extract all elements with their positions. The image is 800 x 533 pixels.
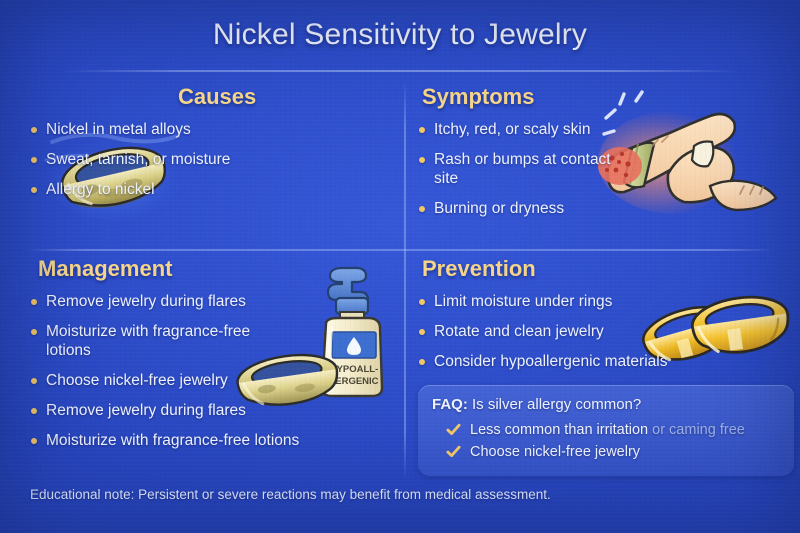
section-causes-heading: Causes	[178, 84, 402, 110]
list-item: Remove jewelry during flares	[30, 292, 280, 311]
check-icon	[446, 422, 461, 437]
section-prevention-heading: Prevention	[422, 256, 788, 282]
educational-note: Educational note: Persistent or severe r…	[30, 487, 551, 502]
list-item: Remove jewelry during flares	[30, 401, 390, 420]
faq-answer-trailing: or caming free	[652, 422, 745, 438]
faq-question: FAQ: Is silver allergy common?	[432, 396, 780, 413]
faq-label: FAQ:	[432, 396, 468, 413]
faq-answer-list: Less common than irritation or caming fr…	[432, 420, 780, 462]
section-management-heading: Management	[38, 256, 404, 282]
list-item: Consider hypoallergenic materials	[418, 352, 718, 371]
check-icon	[446, 444, 461, 459]
faq-answer-item: Choose nickel-free jewelry	[446, 442, 780, 462]
section-management-extra-list: Remove jewelry during flares Moisturize …	[30, 401, 390, 450]
section-prevention: Prevention Limit moisture under rings Ro…	[418, 256, 788, 382]
title-divider	[62, 70, 738, 72]
vertical-divider	[404, 80, 406, 480]
infographic-poster: Nickel Sensitivity to Jewelry	[0, 0, 800, 533]
section-symptoms-heading: Symptoms	[422, 84, 788, 110]
faq-answer-text: Less common than irritation	[470, 422, 648, 438]
section-symptoms-list: Itchy, red, or scaly skin Rash or bumps …	[418, 120, 618, 218]
section-management: Management Remove jewelry during flares …	[30, 256, 404, 461]
list-item: Rotate and clean jewelry	[418, 322, 718, 341]
horizontal-divider	[24, 249, 776, 251]
faq-question-text: Is silver allergy common?	[472, 396, 641, 413]
list-item: Allergy to nickel	[30, 180, 240, 199]
list-item: Moisturize with fragrance-free lotions	[30, 431, 390, 450]
section-prevention-list: Limit moisture under rings Rotate and cl…	[418, 292, 718, 371]
list-item: Limit moisture under rings	[418, 292, 718, 311]
section-management-list: Remove jewelry during flares Moisturize …	[30, 292, 280, 390]
list-item: Sweat, tarnish, or moisture	[30, 150, 240, 169]
section-causes-list: Nickel in metal alloys Sweat, tarnish, o…	[30, 120, 240, 199]
list-item: Moisturize with fragrance-free lotions	[30, 322, 280, 360]
faq-answer-item: Less common than irritation or caming fr…	[446, 420, 780, 440]
section-symptoms: Symptoms Itchy, red, or scaly skin Rash …	[418, 84, 788, 229]
faq-answer-text: Choose nickel-free jewelry	[470, 444, 640, 460]
list-item: Choose nickel-free jewelry	[30, 371, 280, 390]
list-item: Itchy, red, or scaly skin	[418, 120, 618, 139]
section-causes: Causes Nickel in metal alloys Sweat, tar…	[30, 84, 402, 210]
list-item: Burning or dryness	[418, 199, 618, 218]
page-title: Nickel Sensitivity to Jewelry	[0, 18, 800, 52]
list-item: Rash or bumps at contact site	[418, 150, 618, 188]
list-item: Nickel in metal alloys	[30, 120, 240, 139]
faq-box: FAQ: Is silver allergy common? Less comm…	[418, 385, 794, 476]
